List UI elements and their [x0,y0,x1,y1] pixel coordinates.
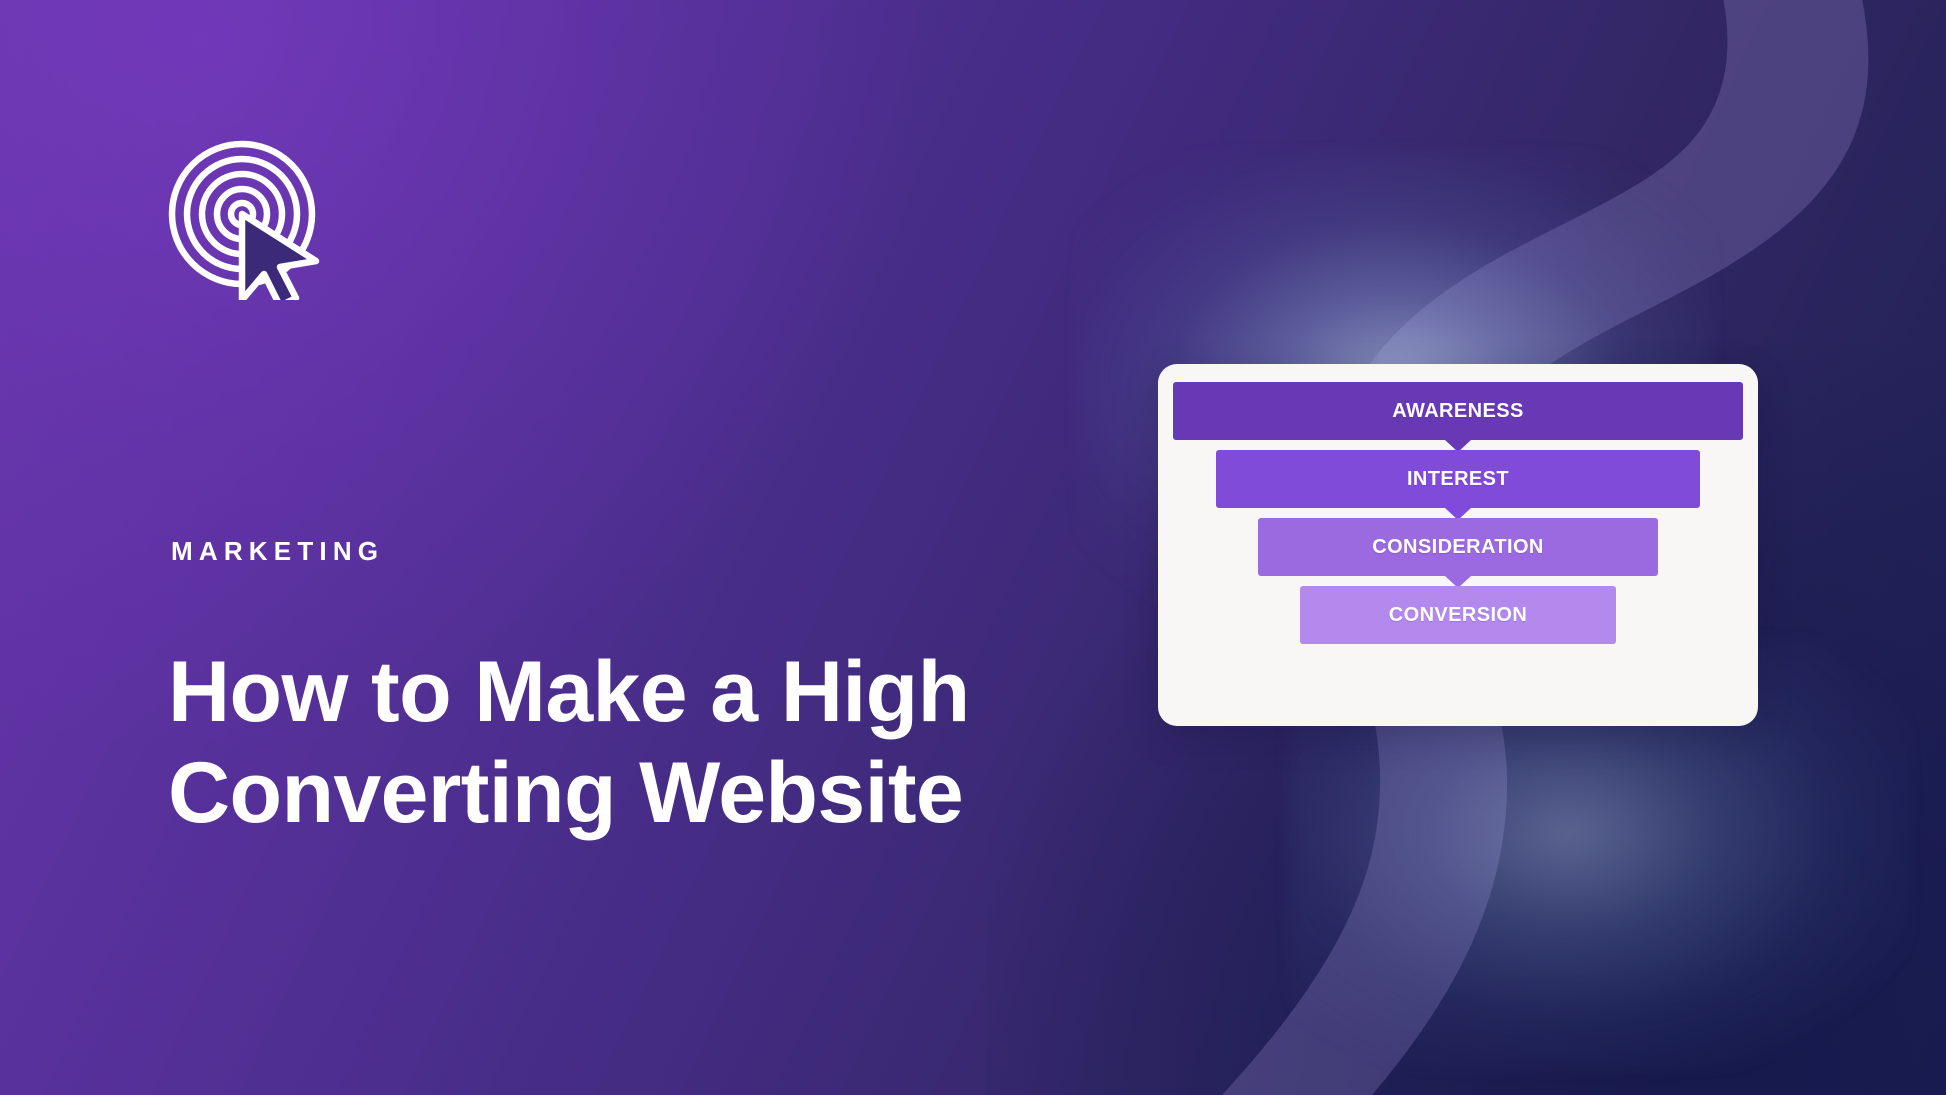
funnel-stage-interest: INTEREST [1216,450,1700,508]
funnel-stage-conversion: CONVERSION [1300,586,1616,644]
funnel-stage-label: AWARENESS [1392,401,1523,421]
page-title-line-2: Converting Website [168,743,1068,844]
poster-text-column: MARKETING How to Make a High Converting … [168,0,1068,1095]
funnel-stage-stack: AWARENESSINTERESTCONSIDERATIONCONVERSION [1158,382,1758,726]
marketing-funnel-card: AWARENESSINTERESTCONSIDERATIONCONVERSION [1158,364,1758,726]
category-eyebrow: MARKETING [171,538,384,564]
funnel-stage-label: CONSIDERATION [1372,537,1544,557]
page-title: How to Make a High Converting Website [168,642,1068,845]
marketing-poster: MARKETING How to Make a High Converting … [0,0,1946,1095]
funnel-stage-label: INTEREST [1407,469,1509,489]
funnel-stage-awareness: AWARENESS [1173,382,1743,440]
funnel-stage-consideration: CONSIDERATION [1258,518,1658,576]
page-title-line-1: How to Make a High [168,642,1068,743]
click-target-icon [168,140,336,300]
funnel-stage-label: CONVERSION [1389,605,1527,625]
